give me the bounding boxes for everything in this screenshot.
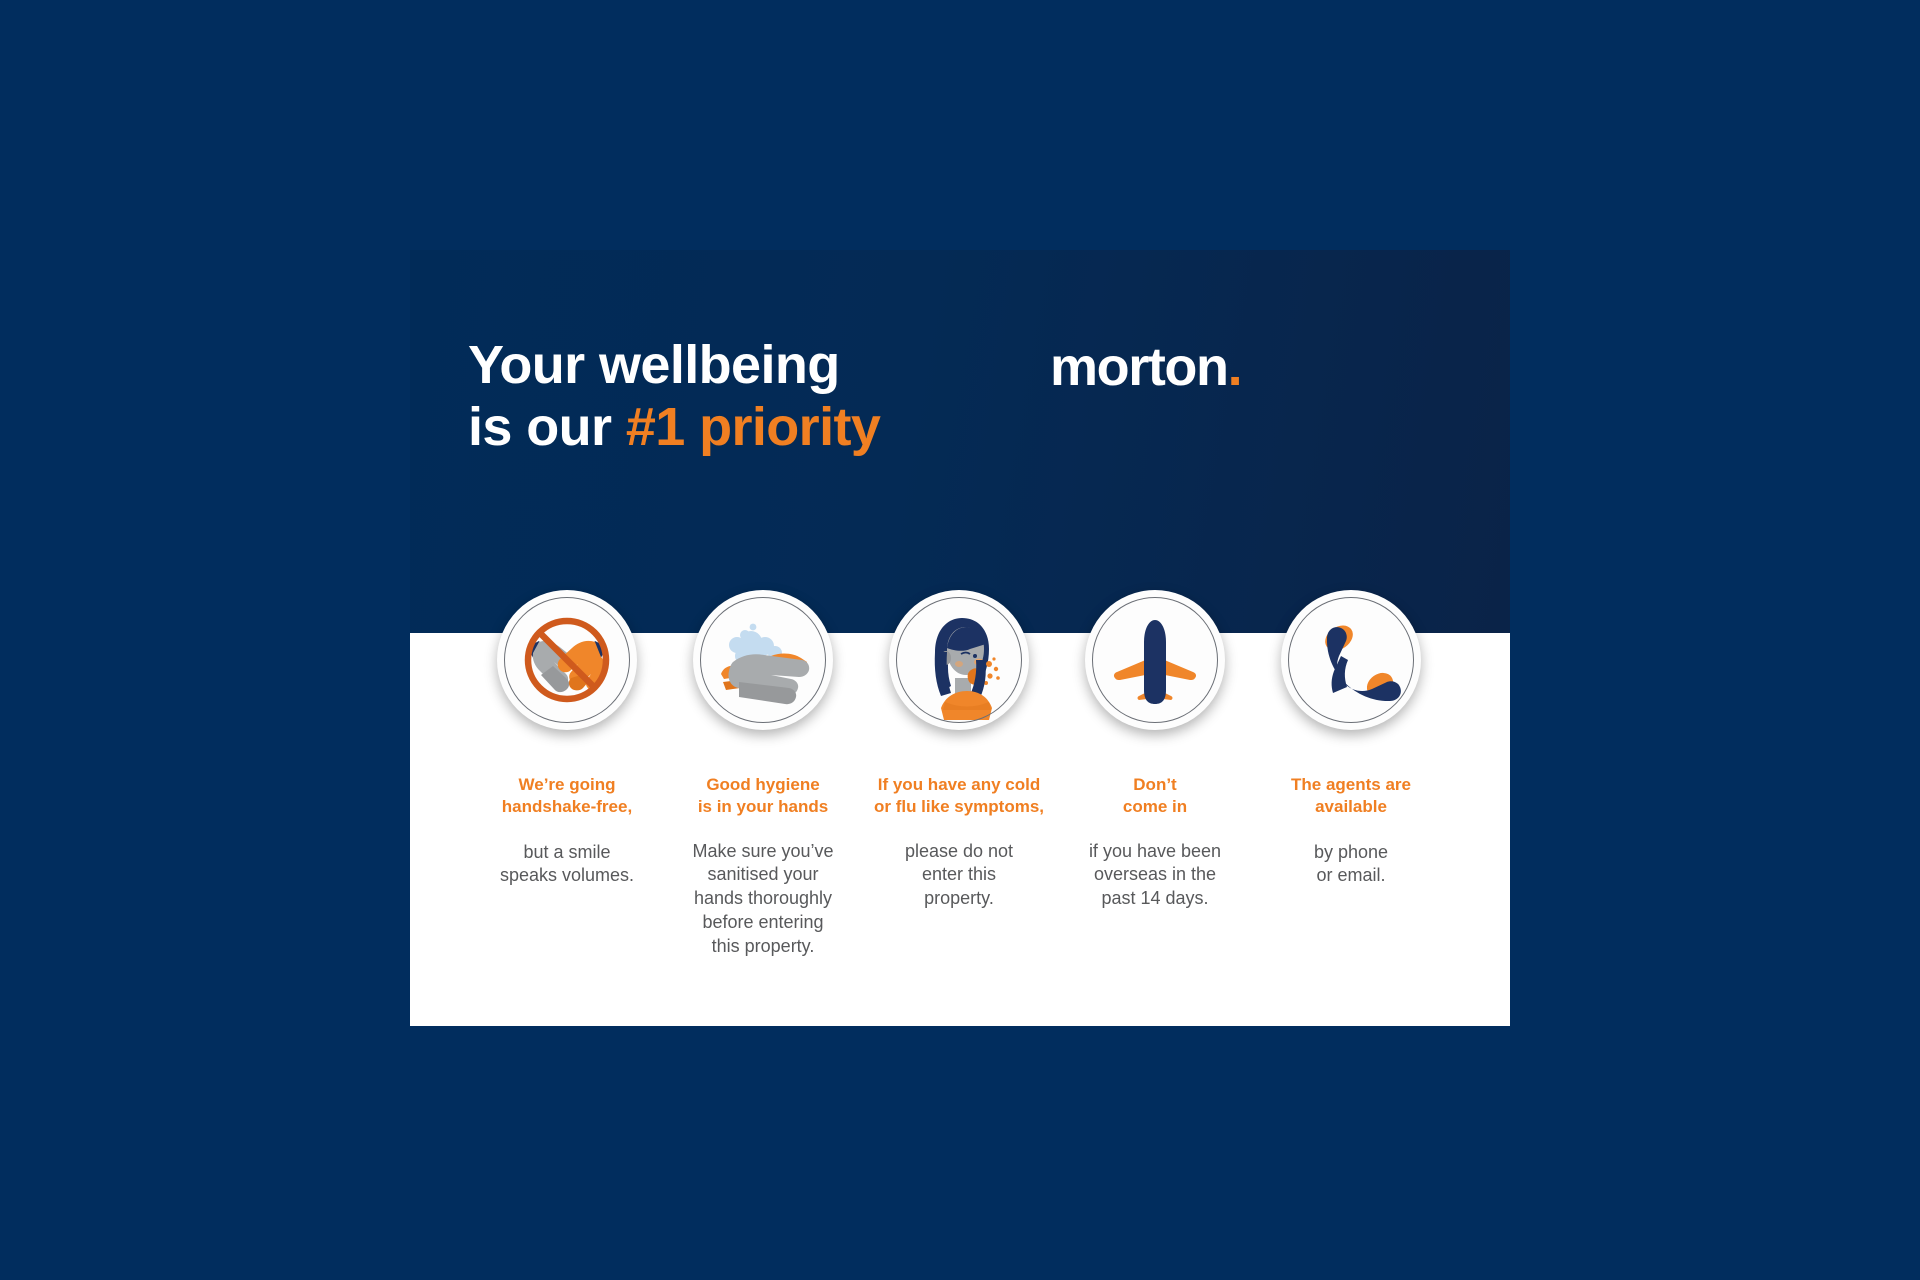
heading-line-1: Good hygiene xyxy=(665,774,861,796)
heading-line-1: Don’t xyxy=(1057,774,1253,796)
body-line-3: hands thoroughly xyxy=(665,887,861,911)
body-line-1: if you have been xyxy=(1057,840,1253,864)
guideline-item-hygiene: Good hygiene is in your hands Make sure … xyxy=(665,590,861,959)
body-line-1: by phone xyxy=(1253,841,1449,865)
badge-circle xyxy=(497,590,637,730)
no-handshake-icon xyxy=(497,590,637,730)
body-line-2: or email. xyxy=(1253,864,1449,888)
badge-circle xyxy=(1281,590,1421,730)
guideline-body: but a smile speaks volumes. xyxy=(469,841,665,889)
poster-card: Your wellbeing is our #1 priority morton… xyxy=(410,250,1510,1026)
body-line-4: before entering xyxy=(665,911,861,935)
person-sneezing-icon xyxy=(889,590,1029,730)
guideline-body: Make sure you’ve sanitised your hands th… xyxy=(665,840,861,960)
guideline-body: if you have been overseas in the past 14… xyxy=(1057,840,1253,912)
heading-line-2: or flu like symptoms, xyxy=(861,796,1057,818)
guideline-heading: Good hygiene is in your hands xyxy=(665,774,861,818)
heading-line-2: is in your hands xyxy=(665,796,861,818)
hand-washing-icon xyxy=(693,590,833,730)
heading-line-2: handshake-free, xyxy=(469,796,665,818)
body-line-1: but a smile xyxy=(469,841,665,865)
heading-line-1: The agents are xyxy=(1253,774,1449,796)
guideline-item-travel: Don’t come in if you have been overseas … xyxy=(1057,590,1253,911)
guideline-heading: The agents are available xyxy=(1253,774,1449,818)
telephone-handset-icon xyxy=(1281,590,1421,730)
body-line-2: enter this xyxy=(861,863,1057,887)
guideline-heading: Don’t come in xyxy=(1057,774,1253,818)
poster-canvas: Your wellbeing is our #1 priority morton… xyxy=(0,0,1920,1280)
body-line-2: speaks volumes. xyxy=(469,864,665,888)
badge-circle xyxy=(693,590,833,730)
body-line-2: sanitised your xyxy=(665,863,861,887)
guidelines-row: We’re going handshake-free, but a smile … xyxy=(410,250,1510,1026)
body-line-1: please do not xyxy=(861,840,1057,864)
body-line-3: property. xyxy=(861,887,1057,911)
heading-line-1: We’re going xyxy=(469,774,665,796)
body-line-2: overseas in the xyxy=(1057,863,1253,887)
guideline-item-handshake: We’re going handshake-free, but a smile … xyxy=(469,590,665,888)
airplane-icon xyxy=(1085,590,1225,730)
body-line-5: this property. xyxy=(665,935,861,959)
badge-circle xyxy=(889,590,1029,730)
body-line-1: Make sure you’ve xyxy=(665,840,861,864)
heading-line-2: available xyxy=(1253,796,1449,818)
badge-circle xyxy=(1085,590,1225,730)
body-line-3: past 14 days. xyxy=(1057,887,1253,911)
heading-line-2: come in xyxy=(1057,796,1253,818)
guideline-heading: We’re going handshake-free, xyxy=(469,774,665,818)
guideline-body: please do not enter this property. xyxy=(861,840,1057,912)
heading-line-1: If you have any cold xyxy=(861,774,1057,796)
guideline-item-symptoms: If you have any cold or flu like symptom… xyxy=(861,590,1057,911)
guideline-item-contact: The agents are available by phone or ema… xyxy=(1253,590,1449,888)
guideline-body: by phone or email. xyxy=(1253,841,1449,889)
guideline-heading: If you have any cold or flu like symptom… xyxy=(861,774,1057,818)
